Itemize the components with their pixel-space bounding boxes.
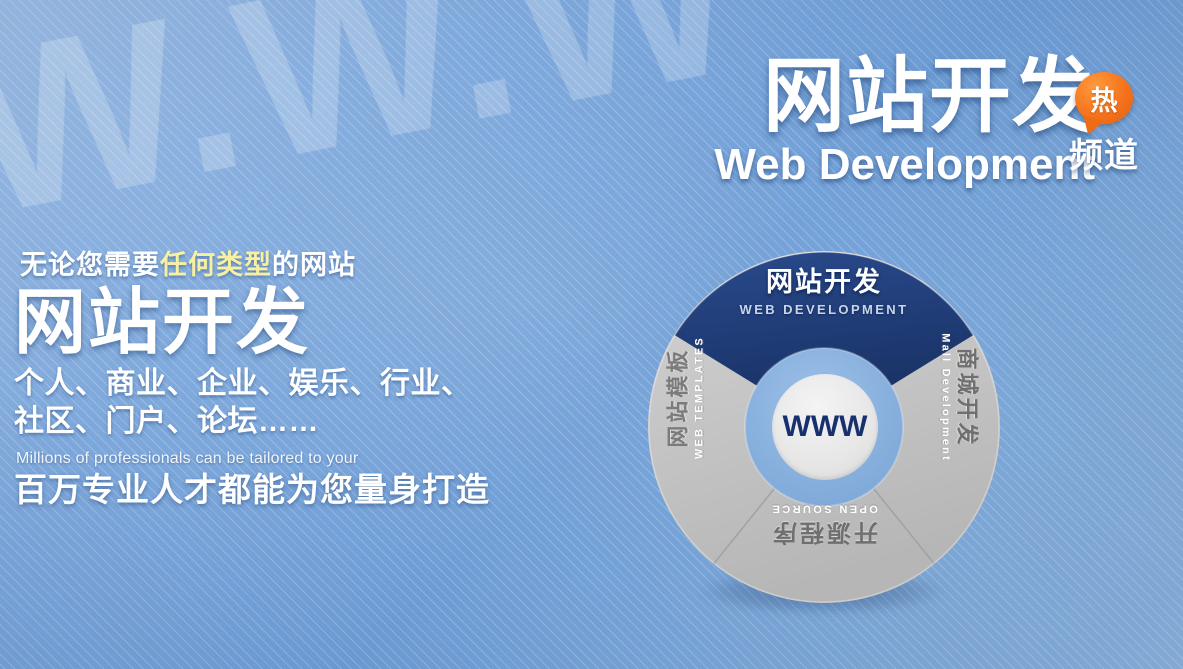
page-title: 网站开发 [14,287,574,359]
chinese-tagline: 百万专业人才都能为您量身打造 [14,472,574,508]
category-line-1: 个人、商业、企业、娱乐、行业、 [14,365,574,403]
english-tagline: Millions of professionals can be tailore… [16,449,574,468]
subheadline-suffix: 的网站 [272,250,356,280]
banner-canvas: W.W.W 无论您需要任何类型的网站 网站开发 个人、商业、企业、娱乐、行业、 … [0,0,1183,669]
brand-title-en: Web Development [714,142,1095,188]
brand-title-group: 网站开发 Web Development [714,56,1095,188]
donut-center-hub[interactable]: WWW [772,374,878,480]
hot-badge-icon: 热 [1075,72,1133,124]
donut-center-label: WWW [783,410,868,444]
channel-label: 频道 [1069,128,1139,177]
subheadline: 无论您需要任何类型的网站 [20,250,574,281]
subheadline-prefix: 无论您需要 [20,250,160,280]
service-donut-diagram: 网站开发 WEB DEVELOPMENT 商城开发 Mall Developme… [634,230,1014,630]
subheadline-highlight: 任何类型 [160,250,272,280]
hot-badge-label: 热 [1075,72,1133,124]
left-copy-block: 无论您需要任何类型的网站 网站开发 个人、商业、企业、娱乐、行业、 社区、门户、… [14,250,574,509]
watermark-text: W.W.W [0,0,762,267]
brand-title-cn: 网站开发 [714,56,1095,138]
category-line-2: 社区、门户、论坛…… [14,403,574,441]
